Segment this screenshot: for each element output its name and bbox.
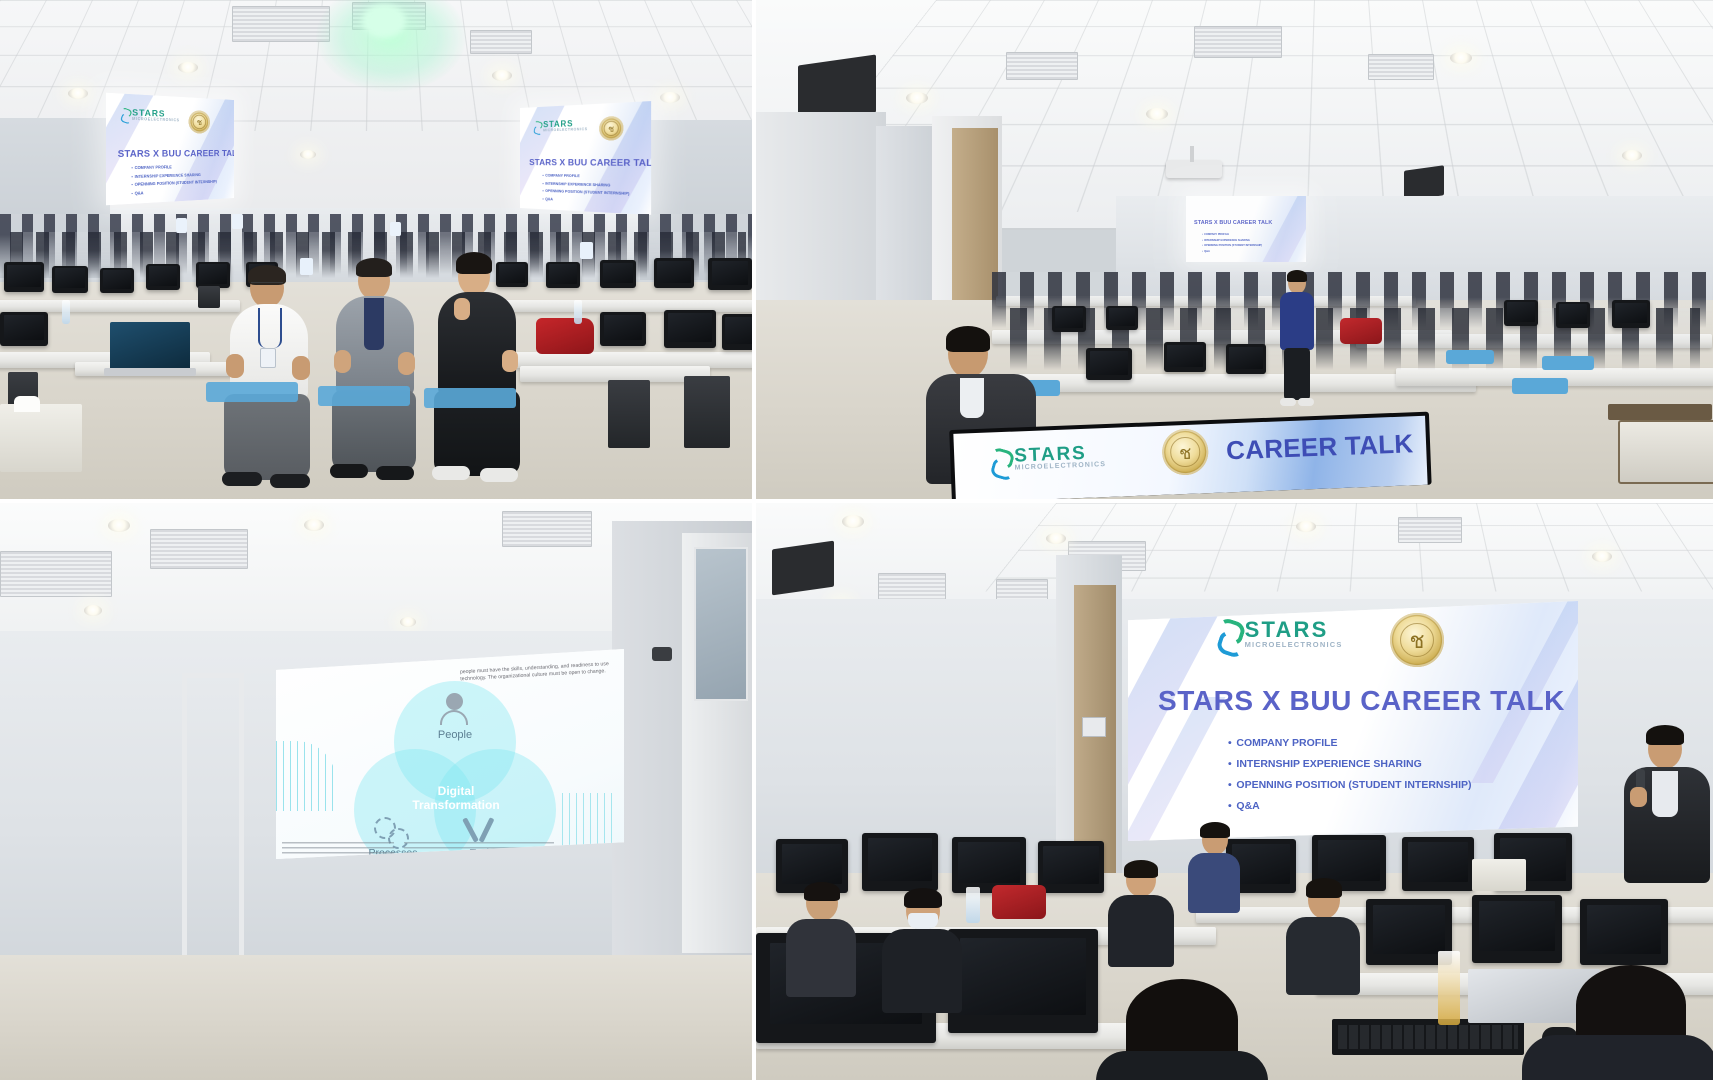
seal-glyph: ช (603, 120, 618, 136)
red-bag (1340, 318, 1382, 344)
foreground-student-back (1086, 979, 1276, 1080)
thumbs-up-hand (334, 350, 351, 373)
door-glass (694, 547, 748, 701)
keyboard-keys (1338, 1025, 1518, 1049)
monitor (600, 312, 646, 346)
monitor (1226, 344, 1266, 374)
red-bag (992, 885, 1046, 919)
stars-swirl-icon (988, 448, 1012, 474)
peace-sign-hand (454, 298, 470, 320)
ceiling-vent (1006, 52, 1078, 80)
student (786, 885, 858, 1001)
ceiling-light (492, 70, 512, 81)
brand-line2: MICROELECTRONICS (1245, 641, 1343, 648)
lanyard (258, 308, 282, 348)
chair (206, 382, 298, 402)
ceiling-light (300, 150, 316, 159)
cctv-camera-icon (652, 647, 672, 661)
projection-screen-right: STARS MICROELECTRONICS ช STARS X BUU CAR… (520, 101, 651, 215)
panel-speaker-presenting-agenda: Speaker with microphone beside the proje… (756, 503, 1713, 1080)
chair (1446, 350, 1494, 364)
monitor (4, 262, 44, 292)
foreground-student-back (1516, 965, 1713, 1080)
slide-title: STARS X BUU CAREER TALK (1158, 685, 1565, 717)
desktop-tower (684, 376, 730, 448)
venn-footnote-left (282, 842, 394, 856)
slide-bullet: COMPANY PROFILE (1228, 733, 1472, 754)
ceiling-light (108, 519, 130, 532)
laptop (110, 322, 190, 370)
monitor (100, 268, 134, 293)
tv-brand-line2: MICROELECTRONICS (1015, 463, 1107, 473)
monitor (52, 266, 88, 293)
slide-bullet: Q&A (1228, 796, 1472, 817)
ceiling-light (1450, 52, 1472, 64)
projector-beam-core (362, 4, 406, 38)
ceiling-vent (502, 511, 592, 547)
hand (1630, 787, 1647, 807)
shirt (1652, 771, 1678, 817)
storage-boxes (1618, 420, 1713, 484)
shoe (270, 474, 310, 488)
ceiling-light (84, 605, 102, 616)
monitor (654, 258, 694, 288)
ceiling-light (1622, 150, 1642, 161)
tissue-box (1472, 859, 1526, 891)
slide-title: STARS X BUU CAREER TALK (118, 148, 234, 159)
desktop-tower (608, 380, 650, 448)
stars-microelectronics-logo: STARS MICROELECTRONICS (533, 119, 588, 132)
photo-collage: Wide view of a computer laboratory class… (0, 0, 1713, 1080)
tissue-sheet (14, 396, 40, 412)
ceiling-light (1296, 521, 1316, 532)
ceiling-vent (1398, 517, 1462, 543)
projector-arm (1190, 146, 1194, 162)
slide-title: STARS X BUU CAREER TALK (1194, 220, 1272, 226)
slide-bullet-list: COMPANY PROFILE INTERNSHIP EXPERIENCE SH… (1228, 733, 1472, 817)
student (1186, 825, 1242, 917)
ceiling-vent (996, 579, 1048, 601)
water-bottle (62, 300, 70, 324)
panel-audience-side-view: Side angle of the computer lab showing r… (756, 0, 1713, 503)
hand (502, 350, 518, 372)
monitor (1402, 837, 1474, 891)
ceiling-light (906, 92, 928, 104)
id-badge (260, 348, 276, 368)
monitor (664, 310, 716, 348)
speaker-1 (222, 268, 314, 490)
shirt (1286, 917, 1360, 995)
desktop-tower (198, 286, 220, 308)
shirt (960, 378, 984, 418)
shoe (432, 466, 470, 480)
hair (1287, 270, 1307, 282)
person-icon (440, 693, 468, 725)
ceiling-vent (878, 573, 946, 601)
slide-bullet-list: COMPANY PROFILE INTERNSHIP EXPERIENCE SH… (131, 163, 216, 198)
seal-glyph: ช (1170, 437, 1201, 468)
red-bag (536, 318, 594, 354)
ceiling-vent (0, 551, 112, 597)
monitor (948, 929, 1098, 1033)
shoe (376, 466, 414, 480)
seal-glyph: ช (193, 114, 207, 129)
stars-swirl-icon (120, 108, 131, 120)
monitor (1052, 306, 1086, 332)
student (1286, 881, 1362, 997)
monitor (722, 314, 756, 350)
monitor (1038, 841, 1104, 893)
hair (1124, 860, 1158, 878)
ceiling-vent (1368, 54, 1434, 80)
monitor (862, 833, 938, 891)
ceiling-light (178, 62, 198, 73)
stars-microelectronics-logo: STARS MICROELECTRONICS (120, 108, 180, 122)
wall-speaker (772, 541, 834, 596)
projection-screen-agenda: STARS MICROELECTRONICS ช STARS X BUU CAR… (1128, 601, 1578, 841)
chair (1512, 378, 1568, 394)
slide-bullet: Q&A (1202, 249, 1262, 255)
tissue-box (0, 404, 82, 472)
monitor (708, 258, 752, 290)
shirt (1108, 895, 1174, 967)
stars-swirl-icon (533, 121, 542, 132)
ceiling-vent (470, 30, 532, 54)
door-left-frame (182, 673, 244, 971)
shirt (882, 929, 962, 1013)
panel-digital-transformation-slide: Two presenters standing beside a large p… (0, 503, 756, 1080)
monitor (1086, 348, 1132, 380)
tv-career-talk-text: CAREER TALK (1226, 428, 1414, 466)
shoe (222, 472, 262, 486)
speaker-3 (432, 252, 524, 490)
pants (1284, 348, 1310, 400)
monitor (600, 260, 636, 288)
venn-center-label: Digital Transformation (408, 785, 504, 813)
slide-bullet-list: COMPANY PROFILE INTERNSHIP EXPERIENCE SH… (542, 172, 629, 207)
ceiling-vent (150, 529, 248, 569)
projection-screen-venn: People Processes Tools Digital Transform… (276, 649, 624, 859)
monitor (1612, 300, 1650, 328)
burapha-university-seal: ช (189, 110, 210, 134)
door-sign (1082, 717, 1106, 737)
student (1106, 863, 1176, 973)
inner-shirt (364, 298, 384, 350)
storage-cart (1608, 404, 1712, 420)
thumbs-up-hand (292, 356, 310, 380)
panel-group-photo-lecture-hall: Wide view of a computer laboratory class… (0, 0, 756, 503)
ceiling-light (660, 92, 680, 103)
monitor (1556, 302, 1590, 328)
ceiling-light (400, 617, 416, 627)
hair (946, 326, 990, 352)
shoe (330, 464, 368, 478)
slide-bullet-list: COMPANY PROFILE INTERNSHIP EXPERIENCE SH… (1202, 232, 1262, 255)
seal-glyph: ช (1400, 623, 1435, 658)
stars-microelectronics-logo: STARS MICROELECTRONICS (1214, 619, 1343, 649)
ceiling-light (1146, 108, 1168, 120)
face-mask-icon (908, 913, 938, 929)
glasses-icon (251, 282, 283, 289)
hair (456, 252, 492, 274)
ceiling-vent (1194, 26, 1282, 58)
laptop-base (104, 368, 196, 376)
hair (1200, 822, 1230, 838)
legs (224, 394, 310, 480)
ceiling-light (842, 515, 864, 528)
ceiling-light (68, 88, 88, 99)
stars-swirl-icon (1214, 619, 1241, 649)
ceiling-projector (1166, 160, 1222, 178)
venn-label-people: People (426, 729, 484, 741)
speaker-2 (330, 258, 420, 488)
ceiling-light (1592, 551, 1612, 562)
hair (356, 258, 392, 277)
slide-bullet: INTERNSHIP EXPERIENCE SHARING (1228, 754, 1472, 775)
shoe (1298, 398, 1314, 406)
monitor (546, 262, 580, 288)
hair (804, 882, 840, 901)
chair (1542, 356, 1594, 370)
slide-bullet: OPENNING POSITION (STUDENT INTERNSHIP) (1228, 775, 1472, 796)
burapha-university-seal: ช (1390, 613, 1444, 667)
shoe (480, 468, 518, 482)
monitor (0, 312, 48, 346)
burapha-university-seal: ช (1161, 428, 1209, 476)
hair (1306, 878, 1342, 898)
brand-line1: STARS (1245, 620, 1343, 641)
slide-title: STARS X BUU CAREER TALK (529, 157, 651, 168)
stars-microelectronics-logo: STARS MICROELECTRONICS (988, 444, 1106, 474)
slide-corner-lines (562, 793, 616, 851)
shoe (1280, 398, 1296, 406)
water-bottle (1438, 951, 1460, 1025)
standing-student (1276, 272, 1318, 412)
monitor (1580, 899, 1668, 965)
student-with-mask (882, 891, 964, 1017)
slide-bullet: OPENNING POSITION (STUDENT INTERNSHIP) (1202, 243, 1262, 249)
shirt (786, 919, 856, 997)
chair (318, 386, 410, 406)
monitor (146, 264, 180, 290)
ceiling-light (1046, 533, 1066, 544)
water-bottle (966, 887, 980, 923)
monitor (1164, 342, 1206, 372)
shirt (1188, 853, 1240, 913)
hair (1646, 725, 1684, 745)
thumbs-up-hand (226, 354, 244, 378)
monitor (1106, 306, 1138, 330)
projection-screen-left: STARS MICROELECTRONICS ช STARS X BUU CAR… (106, 93, 234, 206)
water-bottle (574, 300, 582, 324)
floor (0, 955, 752, 1080)
thumbs-up-hand (398, 352, 415, 375)
ceiling-light (304, 519, 324, 531)
monitor (1504, 300, 1538, 326)
monitor (1472, 895, 1562, 963)
projection-screen: STARS X BUU CAREER TALK COMPANY PROFILE … (1186, 196, 1306, 262)
hair (904, 888, 942, 908)
chair (424, 388, 516, 408)
torso (438, 292, 516, 396)
jacket (1280, 292, 1314, 350)
